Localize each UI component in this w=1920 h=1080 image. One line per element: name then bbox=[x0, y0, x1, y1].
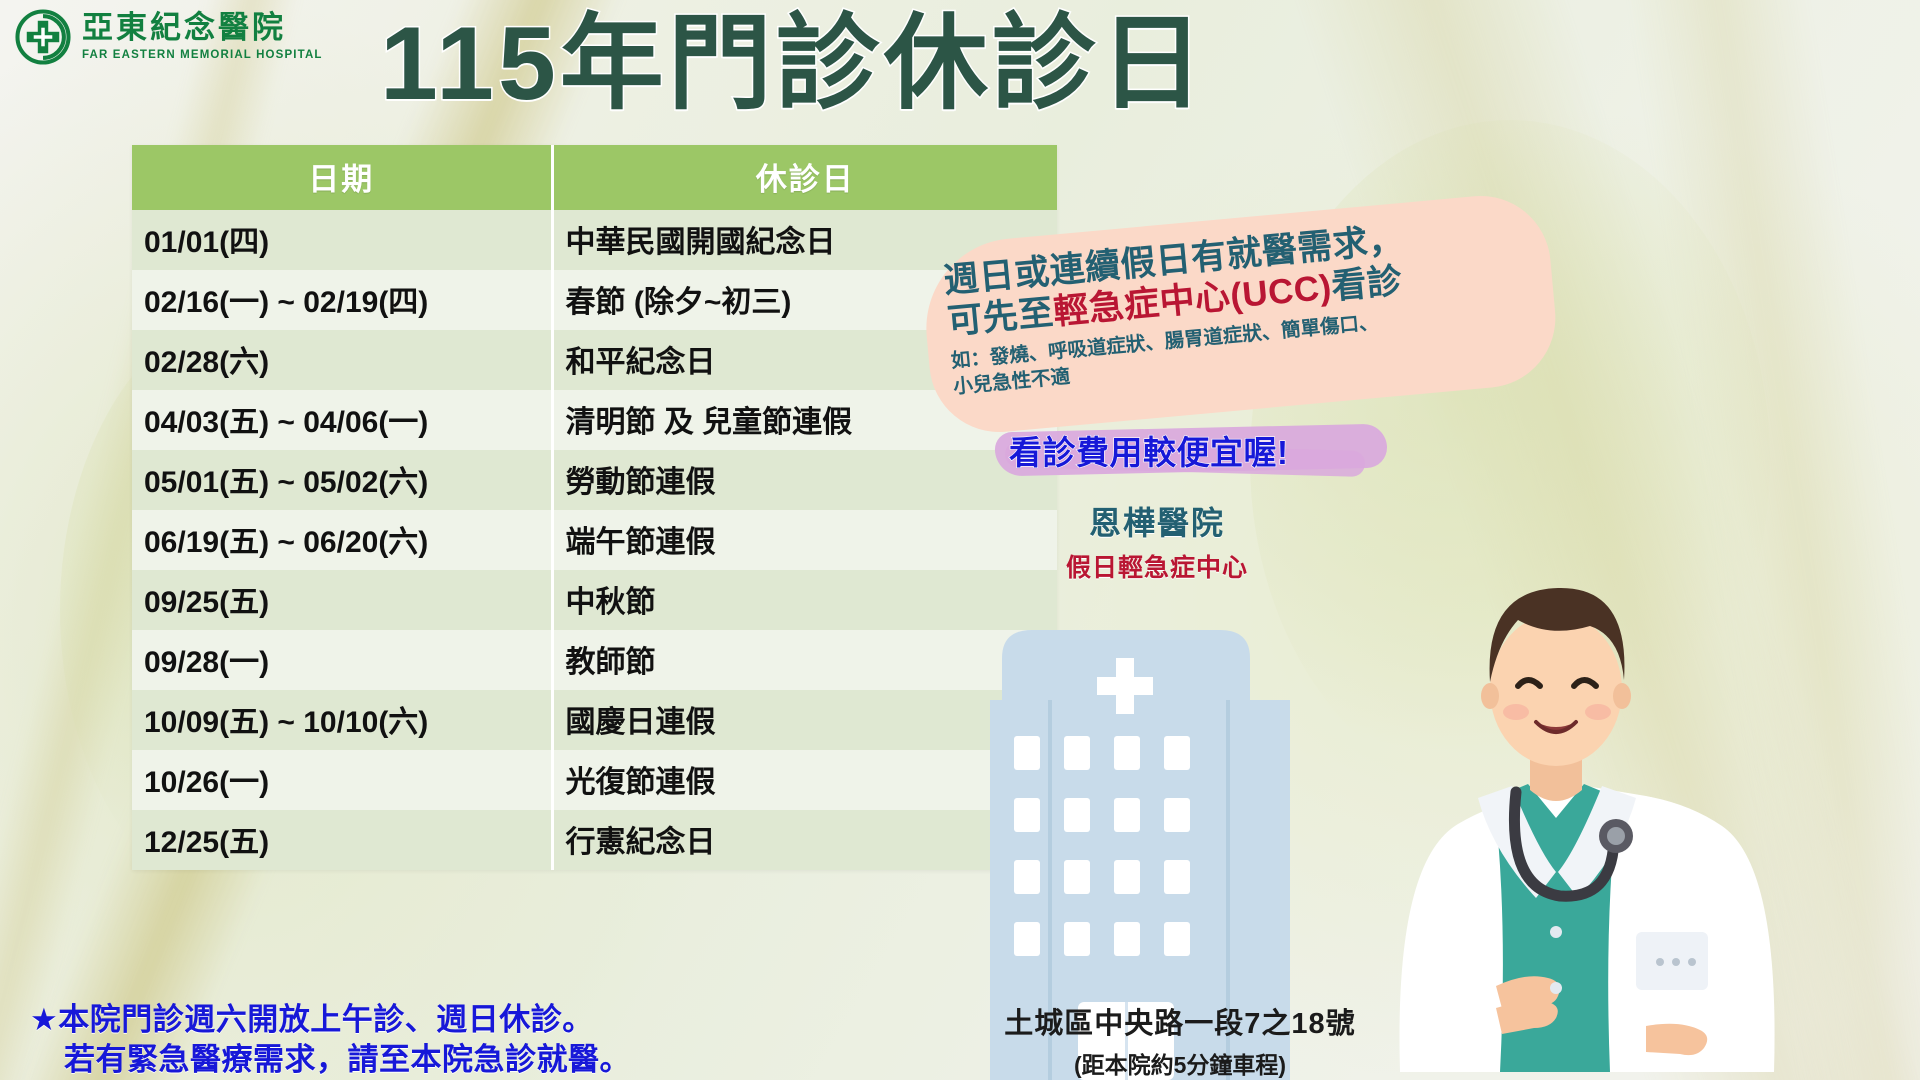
partner-clinic-name: 恩樺醫院 假日輕急症中心 bbox=[1042, 498, 1272, 584]
logo-chinese-name: 亞東紀念醫院 bbox=[82, 13, 323, 44]
table-row: 02/28(六)和平紀念日 bbox=[132, 330, 1057, 390]
table-row: 12/25(五)行憲紀念日 bbox=[132, 810, 1057, 870]
table-row: 10/26(一)光復節連假 bbox=[132, 750, 1057, 810]
cell-date: 10/26(一) bbox=[132, 750, 552, 810]
table-row: 09/28(一)教師節 bbox=[132, 630, 1057, 690]
table-row: 04/03(五) ~ 04/06(一)清明節 及 兒童節連假 bbox=[132, 390, 1057, 450]
callout-line2-prefix: 可先至 bbox=[946, 293, 1056, 341]
green-cross-emblem-icon bbox=[14, 8, 72, 66]
table-row: 01/01(四)中華民國開國紀念日 bbox=[132, 210, 1057, 270]
callout-line2-suffix: 看診 bbox=[1330, 262, 1404, 307]
footnote-line-2: 若有緊急醫療需求，請至本院急診就醫。 bbox=[30, 1040, 631, 1080]
table-row: 02/16(一) ~ 02/19(四)春節 (除夕~初三) bbox=[132, 270, 1057, 330]
clinic-address: 土城區中央路一段7之18號 (距本院約5分鐘車程) bbox=[900, 1000, 1460, 1080]
table-row: 09/25(五)中秋節 bbox=[132, 570, 1057, 630]
closure-schedule-table: 日期 休診日 01/01(四)中華民國開國紀念日02/16(一) ~ 02/19… bbox=[132, 145, 1057, 870]
cell-date: 02/16(一) ~ 02/19(四) bbox=[132, 270, 552, 330]
address-line-2: (距本院約5分鐘車程) bbox=[900, 1046, 1460, 1080]
cell-date: 06/19(五) ~ 06/20(六) bbox=[132, 510, 552, 570]
table-header-row: 日期 休診日 bbox=[132, 145, 1057, 210]
hospital-and-doctor-illustration bbox=[930, 540, 1920, 1080]
poster-canvas: 亞東紀念醫院 FAR EASTERN MEMORIAL HOSPITAL 115… bbox=[0, 0, 1920, 1080]
cell-date: 09/28(一) bbox=[132, 630, 552, 690]
column-header-holiday: 休診日 bbox=[552, 145, 1057, 210]
clinic-title: 恩樺醫院 bbox=[1042, 498, 1272, 544]
cell-date: 05/01(五) ~ 05/02(六) bbox=[132, 450, 552, 510]
cheaper-fee-text: 看診費用較便宜喔! bbox=[1009, 426, 1289, 474]
page-title: 115年門診休診日 bbox=[380, 8, 1480, 120]
cell-date: 10/09(五) ~ 10/10(六) bbox=[132, 690, 552, 750]
cell-holiday: 勞動節連假 bbox=[552, 450, 1057, 510]
table-row: 06/19(五) ~ 06/20(六)端午節連假 bbox=[132, 510, 1057, 570]
cell-date: 12/25(五) bbox=[132, 810, 552, 870]
cell-date: 09/25(五) bbox=[132, 570, 552, 630]
cheaper-fee-note: 看診費用較便宜喔! bbox=[995, 424, 1395, 476]
cell-date: 01/01(四) bbox=[132, 210, 552, 270]
footnote-block: ★本院門診週六開放上午診、週日休診。 若有緊急醫療需求，請至本院急診就醫。 bbox=[30, 1000, 631, 1079]
footnote-line-1: ★本院門診週六開放上午診、週日休診。 bbox=[30, 1000, 631, 1040]
table-row: 10/09(五) ~ 10/10(六)國慶日連假 bbox=[132, 690, 1057, 750]
address-line-1: 土城區中央路一段7之18號 bbox=[900, 1000, 1460, 1042]
clinic-subtitle: 假日輕急症中心 bbox=[1042, 548, 1272, 584]
hospital-logo: 亞東紀念醫院 FAR EASTERN MEMORIAL HOSPITAL bbox=[14, 8, 323, 66]
cell-date: 02/28(六) bbox=[132, 330, 552, 390]
cell-date: 04/03(五) ~ 04/06(一) bbox=[132, 390, 552, 450]
column-header-date: 日期 bbox=[132, 145, 552, 210]
logo-english-name: FAR EASTERN MEMORIAL HOSPITAL bbox=[82, 50, 323, 62]
table-row: 05/01(五) ~ 05/02(六)勞動節連假 bbox=[132, 450, 1057, 510]
